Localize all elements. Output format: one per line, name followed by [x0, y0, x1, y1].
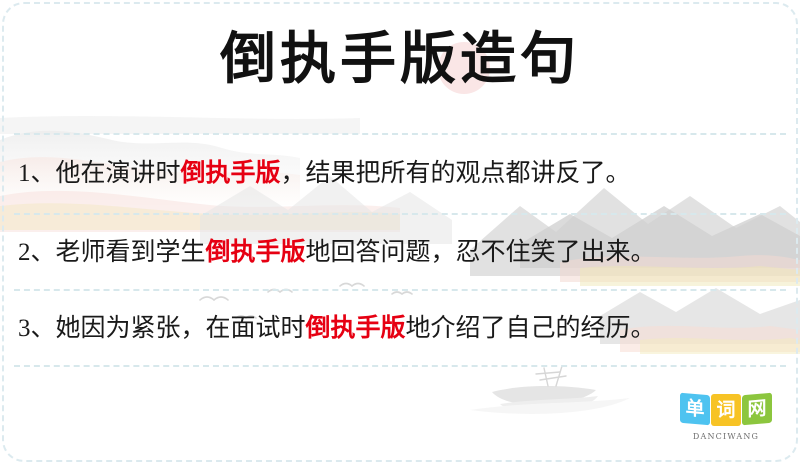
sentence-text-after-1: ，结果把所有的观点都讲反了。 — [281, 160, 631, 187]
logo-mark: 单 词 网 — [676, 394, 776, 426]
sentence-text-after-3: 地介绍了自己的经历。 — [406, 315, 656, 342]
separator-line-3 — [14, 289, 786, 291]
keyword-highlight-2: 倒执手版 — [206, 237, 306, 266]
separator-line-1 — [14, 133, 786, 135]
keyword-highlight-3: 倒执手版 — [306, 313, 406, 342]
sentence-text-before-2: 老师看到学生 — [56, 239, 206, 266]
sentence-item-3: 3、她因为紧张，在面试时倒执手版地介绍了自己的经历。 — [18, 313, 786, 344]
slide-canvas: 倒执手版造句 1、他在演讲时倒执手版，结果把所有的观点都讲反了。 2、老师看到学… — [0, 0, 800, 464]
sentence-item-2: 2、老师看到学生倒执手版地回答问题，忍不住笑了出来。 — [18, 237, 786, 268]
sentence-text-after-2: 地回答问题，忍不住笑了出来。 — [306, 239, 656, 266]
separator-line-4 — [14, 365, 786, 367]
keyword-highlight-1: 倒执手版 — [181, 158, 281, 187]
separator-line-2 — [14, 213, 786, 215]
sentence-text-before-3: 她因为紧张，在面试时 — [56, 315, 306, 342]
page-title: 倒执手版造句 — [220, 26, 580, 92]
site-logo[interactable]: 单 词 网 DANCIWANG — [676, 394, 776, 441]
sentence-index-2: 2、 — [18, 239, 56, 266]
sentence-text-before-1: 他在演讲时 — [56, 160, 181, 187]
sentence-index-1: 1、 — [18, 160, 56, 187]
sentence-item-1: 1、他在演讲时倒执手版，结果把所有的观点都讲反了。 — [18, 158, 786, 189]
logo-tile-3: 网 — [742, 393, 772, 426]
sentence-index-3: 3、 — [18, 315, 56, 342]
page-title-container: 倒执手版造句 — [0, 26, 800, 92]
logo-tile-2: 词 — [711, 394, 741, 426]
logo-subtitle: DANCIWANG — [676, 432, 776, 441]
logo-tile-1: 单 — [680, 393, 710, 426]
